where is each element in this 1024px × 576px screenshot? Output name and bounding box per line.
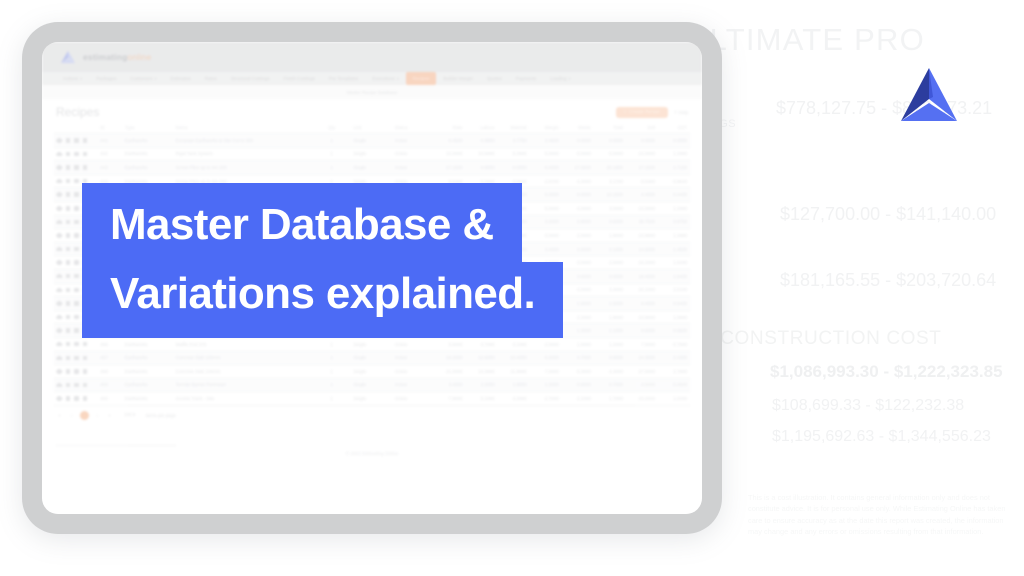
table-cell: Single bbox=[350, 342, 391, 347]
table-cell-number: 2.4300 bbox=[658, 355, 690, 360]
pencil-icon[interactable] bbox=[56, 233, 62, 238]
table-cell-number: 27.6000 bbox=[626, 369, 658, 374]
table-cell-number: 2.1000 bbox=[594, 247, 626, 252]
table-cell: Earthworks bbox=[122, 382, 173, 387]
table-cell-number: 0.0000 bbox=[594, 151, 626, 156]
table-row[interactable]: 442EarthworksRigid Tank System1SingleAct… bbox=[54, 148, 690, 162]
copy-icon[interactable] bbox=[74, 247, 79, 252]
trash-icon[interactable] bbox=[66, 396, 71, 401]
chevron-down-icon: ▾ bbox=[80, 76, 82, 81]
table-cell: Earthworks bbox=[122, 396, 173, 401]
table-cell-number: 14.5000 bbox=[626, 247, 658, 252]
table-cell-number: 0.8640 bbox=[658, 179, 690, 184]
table-cell-number: 1.2000 bbox=[530, 382, 562, 387]
pencil-icon[interactable] bbox=[56, 396, 62, 401]
table-cell-number: 1.3000 bbox=[562, 328, 594, 333]
table-cell-number: 0.0000 bbox=[562, 151, 594, 156]
table-cell-number: 10.4000 bbox=[497, 355, 529, 360]
table-cell-number: 1.2000 bbox=[658, 151, 690, 156]
copy-icon[interactable] bbox=[74, 288, 79, 293]
background-figure-6: $1,195,692.63 - $1,344,556.23 bbox=[772, 428, 991, 446]
page-title: Recipes bbox=[56, 105, 99, 119]
table-cell: Earthworks bbox=[122, 355, 173, 360]
table-cell-number: 21.0000 bbox=[433, 369, 465, 374]
copy-icon[interactable] bbox=[74, 220, 79, 225]
table-cell-number: 1.1000 bbox=[594, 328, 626, 333]
archive-icon[interactable] bbox=[83, 383, 88, 388]
table-cell: 458 bbox=[97, 369, 122, 374]
table-cell: Single bbox=[350, 382, 391, 387]
table-cell-number: 6.4000 bbox=[530, 165, 562, 170]
copy-icon[interactable] bbox=[74, 301, 79, 306]
trash-icon[interactable] bbox=[66, 220, 71, 225]
pencil-icon[interactable] bbox=[56, 247, 62, 252]
table-cell-number: 0.7000 bbox=[594, 382, 626, 387]
trash-icon[interactable] bbox=[66, 152, 71, 157]
trash-icon[interactable] bbox=[66, 165, 71, 170]
table-cell-number: 4.0000 bbox=[562, 287, 594, 292]
table-cell-number: 7.5000 bbox=[626, 342, 658, 347]
pencil-icon[interactable] bbox=[56, 165, 62, 170]
archive-icon[interactable] bbox=[83, 342, 88, 347]
trash-icon[interactable] bbox=[66, 274, 71, 279]
pagination-next[interactable]: › bbox=[94, 413, 101, 418]
trash-icon[interactable] bbox=[66, 288, 71, 293]
table-cell: Active bbox=[392, 369, 433, 374]
create-recipe-button[interactable]: + Create Recipe bbox=[616, 107, 668, 118]
app-main-nav[interactable]: Actions▾PackagesCustomers▾EstimatesRates… bbox=[42, 72, 702, 85]
table-cell-number: 17.5600 bbox=[562, 165, 594, 170]
table-row[interactable]: 458EarthworksConcrete Slab 125mm1SingleA… bbox=[54, 365, 690, 379]
table-cell-number: 0.4400 bbox=[658, 192, 690, 197]
table-cell-number: 1.4500 bbox=[658, 247, 690, 252]
table-cell: Single bbox=[350, 151, 391, 156]
pencil-icon[interactable] bbox=[56, 328, 62, 333]
row-actions[interactable] bbox=[54, 138, 97, 143]
table-cell-number: 17.1500 bbox=[626, 165, 658, 170]
pencil-icon[interactable] bbox=[56, 356, 62, 361]
table-cell-number: 12.0000 bbox=[626, 206, 658, 211]
table-cell-number: 8.4500 bbox=[433, 138, 465, 143]
table-cell: Active bbox=[392, 396, 433, 401]
table-cell-number: 0.7500 bbox=[658, 342, 690, 347]
table-row[interactable]: 456EarthworksWaffle Pod 3751SingleActive… bbox=[54, 338, 690, 352]
column-header[interactable]: Labour bbox=[465, 125, 497, 130]
table-cell-number: 2.0000 bbox=[562, 233, 594, 238]
pagination-current-page[interactable]: 1 bbox=[80, 411, 89, 420]
table-cell: Earthworks bbox=[122, 151, 173, 156]
copy-icon[interactable] bbox=[74, 179, 79, 184]
trash-icon[interactable] bbox=[66, 260, 71, 265]
column-header[interactable]: Unit bbox=[350, 125, 391, 130]
nav-item-estimates[interactable]: Estimates bbox=[164, 72, 198, 85]
column-header[interactable]: Material bbox=[497, 125, 529, 130]
table-cell-number: 18.4000 bbox=[626, 274, 658, 279]
pencil-icon[interactable] bbox=[56, 206, 62, 211]
table-cell-number: 2.8000 bbox=[562, 219, 594, 224]
copy-icon[interactable] bbox=[74, 152, 79, 157]
footer-copyright: © 2023 Estimating Online bbox=[346, 451, 398, 456]
table-cell-number: 1.7000 bbox=[594, 396, 626, 401]
table-cell: Active bbox=[392, 382, 433, 387]
trash-icon[interactable] bbox=[66, 369, 71, 374]
table-cell-number: 0.9000 bbox=[562, 382, 594, 387]
table-cell-number: 10.1500 bbox=[594, 192, 626, 197]
table-cell: 1 bbox=[313, 355, 351, 360]
chevron-down-icon: ▾ bbox=[397, 76, 399, 81]
archive-icon[interactable] bbox=[83, 396, 88, 401]
app-footer: © 2023 Estimating Online bbox=[42, 451, 702, 456]
table-cell: Concrete Slab 125mm bbox=[173, 369, 313, 374]
table-cell: Excavate Earthworks & Site Cut to 300 bbox=[173, 138, 313, 143]
table-cell-number: 2.2000 bbox=[562, 315, 594, 320]
plus-icon: + bbox=[624, 110, 627, 115]
archive-icon[interactable] bbox=[83, 138, 88, 143]
column-header[interactable]: Qty bbox=[313, 125, 351, 130]
table-cell-number: 0.6600 bbox=[658, 328, 690, 333]
copy-icon[interactable] bbox=[74, 165, 79, 170]
table-cell-number: 3.8750 bbox=[658, 219, 690, 224]
copy-icon[interactable] bbox=[74, 192, 79, 197]
table-cell-number: 3.0000 bbox=[594, 206, 626, 211]
table-cell: 460 bbox=[97, 396, 122, 401]
background-disclaimer: This is a cost illustration. It contains… bbox=[748, 492, 1014, 538]
trash-icon[interactable] bbox=[66, 328, 71, 333]
app-pyramid-logo-icon bbox=[60, 50, 76, 64]
background-figure-3: $181,165.55 - $203,720.64 bbox=[780, 270, 996, 291]
table-cell-number: 1.8000 bbox=[497, 382, 529, 387]
trash-icon[interactable] bbox=[66, 233, 71, 238]
copy-icon[interactable] bbox=[74, 233, 79, 238]
table-cell-number: 1.0800 bbox=[658, 315, 690, 320]
table-cell-number: 0.4500 bbox=[658, 382, 690, 387]
pencil-icon[interactable] bbox=[56, 179, 62, 184]
table-cell: 1 bbox=[313, 369, 351, 374]
table-cell: 1 bbox=[313, 342, 351, 347]
table-row[interactable]: 443EarthworksScrew Piles up to 4m 2001Si… bbox=[54, 161, 690, 175]
help-button[interactable]: ? Help bbox=[674, 110, 688, 115]
table-cell-number: 1.8000 bbox=[594, 315, 626, 320]
table-cell-number: 5.3000 bbox=[562, 369, 594, 374]
table-cell-number: 3.0000 bbox=[594, 274, 626, 279]
table-cell-number: 1.0200 bbox=[658, 396, 690, 401]
table-cell-number: 1.2000 bbox=[658, 206, 690, 211]
trash-icon[interactable] bbox=[66, 315, 71, 320]
nav-item-rates[interactable]: Rates bbox=[198, 72, 224, 85]
pencil-icon[interactable] bbox=[56, 315, 62, 320]
trash-icon[interactable] bbox=[66, 383, 71, 388]
table-cell-number: 0.0000 bbox=[658, 138, 690, 143]
table-cell: Active bbox=[392, 151, 433, 156]
copy-icon[interactable] bbox=[74, 274, 79, 279]
table-cell-number: 12.0000 bbox=[626, 151, 658, 156]
table-cell: Concrete Slab 100mm bbox=[173, 355, 313, 360]
table-cell: Access Track - Site bbox=[173, 396, 313, 401]
table-cell-number: 20.1000 bbox=[626, 287, 658, 292]
table-cell: Rigid Tank System bbox=[173, 151, 313, 156]
table-cell-number: 12.0000 bbox=[433, 151, 465, 156]
table-cell-number: 4.4000 bbox=[562, 179, 594, 184]
nav-item-customers[interactable]: Customers▾ bbox=[123, 72, 163, 85]
table-cell-number: 3.7750 bbox=[497, 138, 529, 143]
pencil-icon[interactable] bbox=[56, 138, 62, 143]
page-size-select[interactable]: 100 ▾ bbox=[124, 412, 135, 418]
nav-item-payments[interactable]: Payments bbox=[509, 72, 543, 85]
table-cell-number: 0.0000 bbox=[562, 138, 594, 143]
table-cell-number: 0.0000 bbox=[626, 138, 658, 143]
table-row[interactable]: 441EarthworksExcavate Earthworks & Site … bbox=[54, 134, 690, 148]
app-logo-name: estimating bbox=[83, 52, 128, 62]
background-figure-2: $127,700.00 - $141,140.00 bbox=[780, 204, 996, 225]
copy-icon[interactable] bbox=[74, 342, 79, 347]
app-subbar: Master Recipe Database bbox=[42, 85, 702, 99]
pencil-icon[interactable] bbox=[56, 220, 62, 225]
trash-icon[interactable] bbox=[66, 206, 71, 211]
table-cell-number: 6.2500 bbox=[497, 151, 529, 156]
table-cell-number: 0.0000 bbox=[594, 138, 626, 143]
table-cell-number: 2.7000 bbox=[530, 396, 562, 401]
copy-icon[interactable] bbox=[74, 396, 79, 401]
table-cell-number: 6.2000 bbox=[530, 355, 562, 360]
pencil-icon[interactable] bbox=[56, 301, 62, 306]
table-cell: 1 bbox=[313, 396, 351, 401]
pencil-icon[interactable] bbox=[56, 369, 62, 374]
nav-item-builder-margin[interactable]: Builder Margin bbox=[436, 72, 480, 85]
table-cell-number: 4.0000 bbox=[562, 206, 594, 211]
column-header[interactable]: ID bbox=[97, 125, 122, 130]
trash-icon[interactable] bbox=[66, 342, 71, 347]
column-header[interactable]: Rate bbox=[433, 125, 465, 130]
table-cell-number: 3.9000 bbox=[594, 355, 626, 360]
table-cell-number: 9.8000 bbox=[465, 165, 497, 170]
headline-overlay: Master Database & Variations explained. bbox=[82, 183, 563, 338]
trash-icon[interactable] bbox=[66, 301, 71, 306]
table-cell-number: 3.4000 bbox=[594, 287, 626, 292]
column-header[interactable]: Type bbox=[122, 125, 173, 130]
column-header[interactable]: Status bbox=[392, 125, 433, 130]
chevron-down-icon: ▾ bbox=[155, 76, 157, 81]
column-header[interactable]: Sell bbox=[626, 125, 658, 130]
table-cell-number: 16.2000 bbox=[626, 260, 658, 265]
headline-line-1: Master Database & bbox=[82, 183, 522, 263]
archive-icon[interactable] bbox=[83, 152, 88, 157]
app-logo-suffix: online bbox=[128, 52, 152, 62]
pyramid-logo bbox=[897, 66, 961, 124]
copy-icon[interactable] bbox=[74, 356, 79, 361]
table-cell-number: 1.9000 bbox=[562, 301, 594, 306]
pencil-icon[interactable] bbox=[56, 288, 62, 293]
table-cell-number: 1.5000 bbox=[562, 342, 594, 347]
trash-icon[interactable] bbox=[66, 356, 71, 361]
table-cell: Screw Piles up to 4m 200 bbox=[173, 165, 313, 170]
table-cell-number: 5.1000 bbox=[465, 396, 497, 401]
copy-icon[interactable] bbox=[74, 369, 79, 374]
table-cell: Active bbox=[392, 342, 433, 347]
nav-item-pre-templates[interactable]: Pre Templates bbox=[322, 72, 365, 85]
row-actions[interactable] bbox=[54, 369, 97, 374]
copy-icon[interactable] bbox=[74, 260, 79, 265]
table-cell-number: 6.9800 bbox=[465, 138, 497, 143]
table-cell-number: 1.6200 bbox=[658, 260, 690, 265]
pencil-icon[interactable] bbox=[56, 342, 62, 347]
nav-item-packages[interactable]: Packages bbox=[89, 72, 123, 85]
table-cell-number: 2.2000 bbox=[465, 382, 497, 387]
column-header[interactable]: Total bbox=[594, 125, 626, 130]
nav-item-recipes[interactable]: Recipes bbox=[406, 72, 437, 85]
pagination-last[interactable]: » bbox=[106, 413, 113, 418]
table-cell-number: 8.6400 bbox=[626, 179, 658, 184]
footer-divider bbox=[56, 445, 176, 446]
background-section-heading: D CONSTRUCTION COST bbox=[700, 328, 942, 350]
copy-icon[interactable] bbox=[74, 315, 79, 320]
table-cell: Earthworks bbox=[122, 342, 173, 347]
page-header-actions: + Create Recipe ? Help bbox=[616, 107, 689, 118]
headline-line-2: Variations explained. bbox=[82, 262, 563, 338]
pagination-first[interactable]: « bbox=[56, 413, 63, 418]
table-cell: Active bbox=[392, 355, 433, 360]
pencil-icon[interactable] bbox=[56, 192, 62, 197]
table-cell-number: 3.1700 bbox=[594, 179, 626, 184]
table-cell-number: 10.5000 bbox=[465, 151, 497, 156]
table-cell: 1 bbox=[313, 382, 351, 387]
table-cell-number: 0.9400 bbox=[658, 301, 690, 306]
table-cell-number: 2.5000 bbox=[562, 247, 594, 252]
nav-item-loading[interactable]: Loading▾ bbox=[543, 72, 577, 85]
nav-item-finish-costings[interactable]: Finish Costings bbox=[277, 72, 322, 85]
nav-item-quotes[interactable]: Quotes bbox=[480, 72, 509, 85]
table-row[interactable]: 459EarthworksTermite Barrier Perimeter1S… bbox=[54, 379, 690, 393]
table-cell-number: 6.6000 bbox=[626, 328, 658, 333]
table-cell: Single bbox=[350, 138, 391, 143]
nav-item-executions[interactable]: Executions▾ bbox=[365, 72, 406, 85]
pencil-icon[interactable] bbox=[56, 260, 62, 265]
table-cell: Active bbox=[392, 138, 433, 143]
table-cell-number: 3.1000 bbox=[497, 342, 529, 347]
trash-icon[interactable] bbox=[66, 138, 71, 143]
archive-icon[interactable] bbox=[83, 369, 88, 374]
table-cell-number: 2.1000 bbox=[562, 396, 594, 401]
row-actions[interactable] bbox=[54, 396, 97, 401]
table-cell-number: 1.7150 bbox=[658, 165, 690, 170]
table-cell-number: 2.0100 bbox=[658, 287, 690, 292]
table-cell-number: 3.0000 bbox=[562, 260, 594, 265]
table-row[interactable]: 457EarthworksConcrete Slab 100mm1SingleA… bbox=[54, 352, 690, 366]
table-cell-number: 4.2000 bbox=[497, 396, 529, 401]
table-cell: Single bbox=[350, 396, 391, 401]
table-cell-number: 2.6000 bbox=[594, 260, 626, 265]
nav-item-structural-costings[interactable]: Structural Costings bbox=[224, 72, 277, 85]
row-actions[interactable] bbox=[54, 152, 97, 157]
table-cell-number: 4.5000 bbox=[626, 382, 658, 387]
row-actions[interactable] bbox=[54, 165, 97, 170]
copy-icon[interactable] bbox=[74, 328, 79, 333]
table-cell-number: 11.8000 bbox=[497, 369, 529, 374]
table-cell-number: 4.4000 bbox=[594, 369, 626, 374]
column-header[interactable]: Name bbox=[173, 125, 313, 130]
help-label: Help bbox=[679, 110, 688, 115]
row-actions[interactable] bbox=[54, 356, 97, 361]
table-cell: Termite Barrier Perimeter bbox=[173, 382, 313, 387]
trash-icon[interactable] bbox=[66, 192, 71, 197]
table-cell-number: 6.0000 bbox=[562, 192, 594, 197]
table-cell-number: 2.0000 bbox=[530, 342, 562, 347]
table-cell: Single bbox=[350, 369, 391, 374]
table-cell-number: 20.1800 bbox=[594, 165, 626, 170]
table-header-row: IDTypeNameQtyUnitStatusRateLabourMateria… bbox=[54, 122, 690, 134]
table-cell-number: 4.7000 bbox=[562, 355, 594, 360]
table-cell: 443 bbox=[97, 165, 122, 170]
table-cell-number: 14.3000 bbox=[465, 369, 497, 374]
column-header[interactable]: Margin bbox=[530, 125, 562, 130]
background-figure-4: $1,086,993.30 - $1,222,323.85 bbox=[770, 362, 1003, 382]
nav-item-actions[interactable]: Actions▾ bbox=[56, 72, 89, 85]
table-cell-number: 5.6000 bbox=[433, 342, 465, 347]
table-cell: 1 bbox=[313, 138, 351, 143]
table-cell-number: 2.4600 bbox=[530, 138, 562, 143]
table-cell-number: 38.7500 bbox=[626, 219, 658, 224]
table-cell: 1 bbox=[313, 151, 351, 156]
page-header: Recipes + Create Recipe ? Help bbox=[42, 99, 702, 122]
table-cell: 457 bbox=[97, 355, 122, 360]
table-cell-number: 7.0000 bbox=[530, 369, 562, 374]
table-row[interactable]: 460EarthworksAccess Track - Site1SingleA… bbox=[54, 392, 690, 406]
copy-icon[interactable] bbox=[74, 138, 79, 143]
table-cell-number: 24.3000 bbox=[626, 355, 658, 360]
table-cell: 456 bbox=[97, 342, 122, 347]
table-cell: 1 bbox=[313, 165, 351, 170]
app-topbar: estimatingonline bbox=[42, 42, 702, 72]
row-actions[interactable] bbox=[54, 342, 97, 347]
table-cell-number: 10.2000 bbox=[626, 396, 658, 401]
table-cell: Waffle Pod 375 bbox=[173, 342, 313, 347]
background-report-title: ULTIMATE PRO bbox=[686, 22, 925, 58]
create-recipe-label: Create Recipe bbox=[629, 110, 660, 115]
copy-icon[interactable] bbox=[74, 383, 79, 388]
table-cell-number: 1.2880 bbox=[658, 233, 690, 238]
table-cell-number: 3.4000 bbox=[433, 382, 465, 387]
trash-icon[interactable] bbox=[66, 247, 71, 252]
archive-icon[interactable] bbox=[83, 165, 88, 170]
table-cell-number: 3.6000 bbox=[562, 274, 594, 279]
column-header[interactable]: GST bbox=[658, 125, 690, 130]
table-cell-number: 8.0000 bbox=[497, 165, 529, 170]
table-cell-number: 12.8800 bbox=[626, 233, 658, 238]
trash-icon[interactable] bbox=[66, 179, 71, 184]
copy-icon[interactable] bbox=[74, 206, 79, 211]
pagination-prev[interactable]: ‹ bbox=[68, 413, 75, 418]
table-cell-number: 5.0000 bbox=[530, 151, 562, 156]
pencil-icon[interactable] bbox=[56, 274, 62, 279]
table-cell: 442 bbox=[97, 151, 122, 156]
pencil-icon[interactable] bbox=[56, 152, 62, 157]
table-cell-number: 3.6000 bbox=[594, 219, 626, 224]
table-cell-number: 7.9000 bbox=[433, 396, 465, 401]
table-cell-number: 12.6000 bbox=[465, 355, 497, 360]
table-cell-number: 2.7600 bbox=[658, 369, 690, 374]
table-cell: Earthworks bbox=[122, 138, 173, 143]
archive-icon[interactable] bbox=[83, 356, 88, 361]
table-cell: 459 bbox=[97, 382, 122, 387]
column-header[interactable]: Waste bbox=[562, 125, 594, 130]
question-icon: ? bbox=[674, 110, 677, 115]
pencil-icon[interactable] bbox=[56, 383, 62, 388]
row-actions[interactable] bbox=[54, 383, 97, 388]
table-cell-number: 1.8000 bbox=[594, 233, 626, 238]
table-cell-number: 4.4000 bbox=[626, 192, 658, 197]
table-pagination[interactable]: «‹1›»100 ▾items per page bbox=[42, 406, 702, 425]
table-cell-number: 1.2000 bbox=[594, 342, 626, 347]
table-cell-number: 1.5000 bbox=[594, 301, 626, 306]
